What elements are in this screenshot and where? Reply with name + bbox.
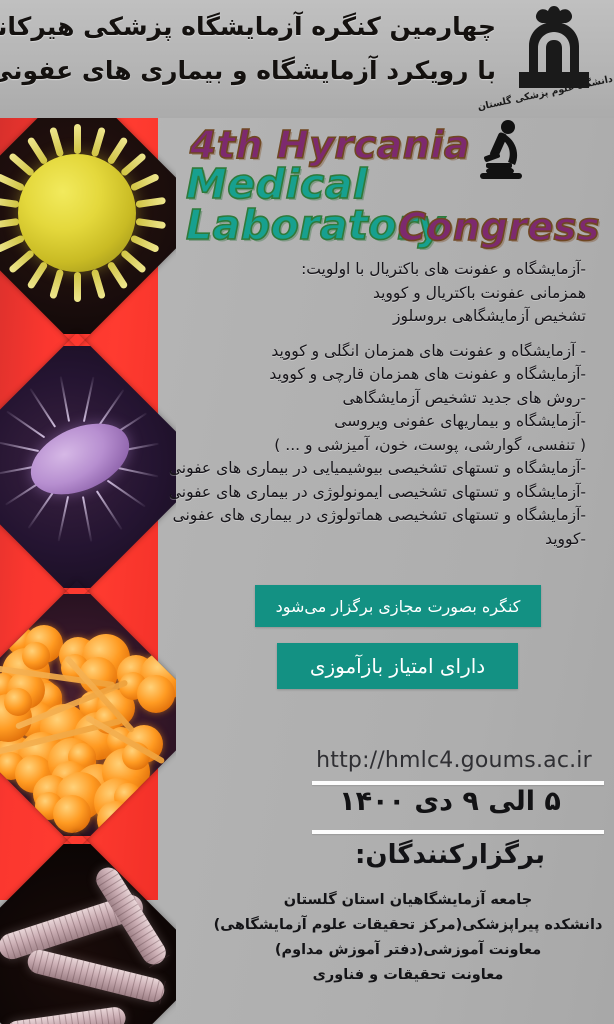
topic-line: -آزمایشگاه و بیماریهای عفونی ویروسی [176,410,586,434]
retraining-credit-badge: دارای امتیاز بازآموزی [277,643,518,689]
virtual-congress-badge: کنگره بصورت مجازی برگزار می‌شود [255,585,541,627]
divider-top [312,781,604,785]
congress-url[interactable]: http://hmlc4.goums.ac.ir [300,748,608,773]
header-line-1: چهارمین کنگره آزمایشگاه پزشکی هیرکانیا [8,12,496,41]
organizer-item: جامعه آزمایشگاهیان استان گلستان [210,888,606,913]
virus-body-icon [18,154,136,272]
topic-line: -آزمایشگاه و تستهای تشخیصی ایمونولوژی در… [176,481,586,505]
congress-poster: چهارمین کنگره آزمایشگاه پزشکی هیرکانیا ب… [0,0,614,1024]
title-line-3: Congress [398,208,600,246]
topic-line: -روش های جدید تشخیص آزمایشگاهی [176,387,586,411]
university-logo: دانشگاه علوم پزشکی گلستان [500,4,608,116]
topic-line: -آزمایشگاه و تستهای تشخیصی هماتولوژی در … [176,504,586,528]
spacer [176,329,586,340]
parasite-worm-icon [5,1006,127,1024]
congress-title: 4th Hyrcania Medical Laboratory Congress [176,126,614,256]
topic-line: -آزمایشگاه و عفونت های همزمان قارچی و کو… [176,363,586,387]
organizers-heading: برگزارکنندگان: [300,840,600,870]
divider-bottom [312,830,604,834]
organizer-item: معاونت تحقیقات و فناوری [210,963,606,988]
topic-line: همزمانی عفونت باکتریال و کووید [176,282,586,306]
organizer-item: معاونت آموزشی(دفتر آموزش مداوم) [210,938,606,963]
bacterium-icon [20,410,140,509]
title-line-1: 4th Hyrcania [190,126,470,164]
fungal-spore-icon [53,795,91,833]
topic-line: تشخیص آزمایشگاهی بروسلوز [176,305,586,329]
congress-date: ۵ الی ۹ دی ۱۴۰۰ [300,786,600,817]
organizer-item: دانشکده پیراپزشکی(مرکز تحقیقات علوم آزما… [210,913,606,938]
topics-block: -آزمایشگاه و عفونت های باکتریال با اولوی… [176,258,600,552]
topic-line: -کووید [176,528,586,552]
fungal-spore-icon [137,675,175,713]
topic-line: -آزمایشگاه و تستهای تشخیصی بیوشیمیایی در… [176,457,586,481]
topic-line: -آزمایشگاه و عفونت های باکتریال با اولوی… [176,258,586,282]
topic-line: - آزمایشگاه و عفونت های همزمان انگلی و ک… [176,340,586,364]
header-line-2: با رویکرد آزمایشگاه و بیماری های عفونی [8,56,496,85]
topic-line: ( تنفسی، گوارشی، پوست، خون، آمیزشی و ...… [176,434,586,458]
organizers-list: جامعه آزمایشگاهیان استان گلستان دانشکده … [210,888,606,988]
artwork-column [0,100,176,1024]
